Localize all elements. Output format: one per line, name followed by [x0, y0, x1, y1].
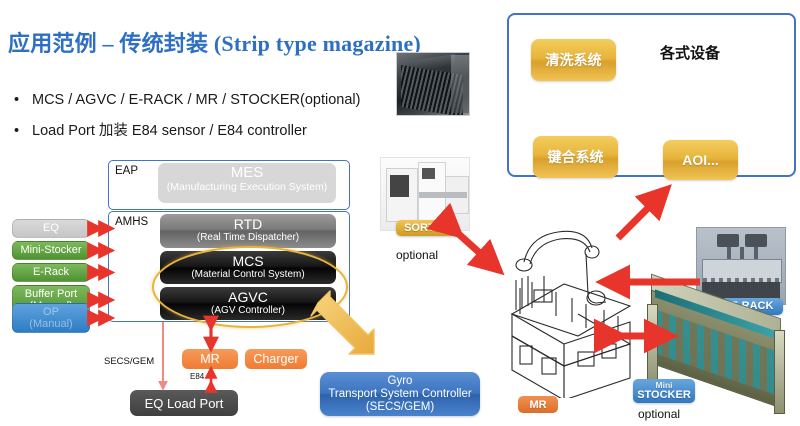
bullet-text-1: MCS / AGVC / E-RACK / MR / STOCKER(optio…: [32, 92, 360, 108]
bullet-item-1: •MCS / AGVC / E-RACK / MR / STOCKER(opti…: [14, 92, 360, 108]
mcs-block[interactable]: MCS (Material Control System): [160, 251, 336, 284]
page-title: 应用范例 – 传统封装 (Strip type magazine): [8, 26, 421, 58]
misc-equipment-label: 各式设备: [660, 42, 720, 63]
equipment-box-op-line2: (Manual): [29, 318, 72, 331]
amhs-label: AMHS: [115, 216, 148, 228]
mr-center-tag-label: MR: [529, 399, 546, 411]
agv-robot-illustration: [486, 218, 636, 398]
cleaning-system-label: 清洗系统: [546, 50, 602, 70]
mes-block[interactable]: MES (Manufacturing Execution System): [158, 163, 336, 203]
secs-gem-label: SECS/GEM: [104, 356, 154, 367]
bonding-system-button[interactable]: 键合系统: [533, 136, 618, 178]
mini-stocker-optional-label: optional: [638, 407, 680, 421]
rtd-block[interactable]: RTD (Real Time Dispatcher): [160, 214, 336, 248]
mes-title: MES: [158, 164, 336, 181]
mini-stocker-tag-line2: STOCKER: [637, 390, 691, 401]
equipment-box-e-rack[interactable]: E-Rack: [12, 263, 90, 282]
sorter-tag[interactable]: SORTER: [396, 220, 458, 236]
charger-node[interactable]: Charger: [245, 349, 307, 369]
equipment-box-eq-label: EQ: [43, 222, 59, 235]
gyro-line3: (SECS/GEM): [366, 401, 434, 414]
mr-center-tag[interactable]: MR: [518, 396, 558, 413]
rtd-subtitle: (Real Time Dispatcher): [160, 232, 336, 243]
mcs-title: MCS: [160, 253, 336, 269]
bullet-text-2: Load Port 加装 E84 sensor / E84 controller: [32, 123, 307, 139]
equipment-box-buffer-port-line1: Buffer Port: [25, 288, 77, 301]
sorter-conveyor: [419, 192, 467, 198]
eap-label: EAP: [115, 165, 138, 177]
sorter-tag-label: SORTER: [404, 223, 450, 234]
magazine-side: [451, 55, 469, 113]
agvc-block[interactable]: AGVC (AGV Controller): [160, 287, 336, 320]
equipment-box-eq[interactable]: EQ: [12, 219, 90, 238]
mr-node[interactable]: MR: [182, 349, 238, 369]
e-rack-head-right: [745, 234, 767, 247]
bullet-marker-2: •: [14, 123, 32, 139]
e-rack-stem-left: [727, 247, 731, 259]
cleaning-system-button[interactable]: 清洗系统: [531, 39, 616, 81]
equipment-box-mini-stocker[interactable]: Mini-Stocker: [12, 241, 90, 260]
equipment-box-mini-stocker-label: Mini-Stocker: [20, 244, 81, 257]
eq-link-arrows: [96, 229, 107, 319]
gyro-line1: Gyro: [388, 375, 413, 388]
agvc-title: AGVC: [160, 289, 336, 305]
mini-stocker-tag[interactable]: Mini STOCKER: [633, 379, 695, 403]
sorter-screen: [390, 175, 409, 197]
bonding-system-label: 键合系统: [548, 147, 604, 167]
mini-stocker-post-right: [774, 330, 785, 414]
rtd-title: RTD: [160, 216, 336, 232]
mini-stocker-tag-line1: Mini: [656, 381, 673, 390]
gyro-line2: Transport System Controller: [328, 388, 471, 401]
mini-stocker-post-left: [647, 304, 658, 388]
bullet-item-2: •Load Port 加装 E84 sensor / E84 controlle…: [14, 119, 307, 140]
e84-label: E84: [190, 372, 204, 381]
agvc-subtitle: (AGV Controller): [160, 305, 336, 316]
equipment-box-op[interactable]: OP (Manual): [12, 303, 90, 333]
strip-magazine-photo: [396, 52, 470, 116]
e-rack-stem-right: [754, 247, 758, 259]
mcs-subtitle: (Material Control System): [160, 269, 336, 280]
e-rack-head-left: [717, 234, 739, 247]
e-rack-stem-mid: [740, 247, 744, 259]
sorter-panel: [422, 168, 435, 179]
aoi-button[interactable]: AOI...: [663, 140, 738, 180]
charger-node-label: Charger: [253, 352, 298, 366]
eq-load-port-label: EQ Load Port: [145, 396, 224, 411]
mr-node-label: MR: [200, 352, 219, 366]
aoi-label: AOI...: [682, 152, 719, 168]
equipment-box-op-line1: OP: [29, 306, 72, 319]
eq-load-port-node[interactable]: EQ Load Port: [130, 390, 238, 416]
gyro-transport-system-controller[interactable]: Gyro Transport System Controller (SECS/G…: [320, 372, 480, 416]
bullet-marker-1: •: [14, 92, 32, 108]
sorter-optional-label: optional: [396, 248, 438, 262]
mes-subtitle: (Manufacturing Execution System): [158, 181, 336, 193]
equipment-box-e-rack-label: E-Rack: [33, 266, 69, 279]
